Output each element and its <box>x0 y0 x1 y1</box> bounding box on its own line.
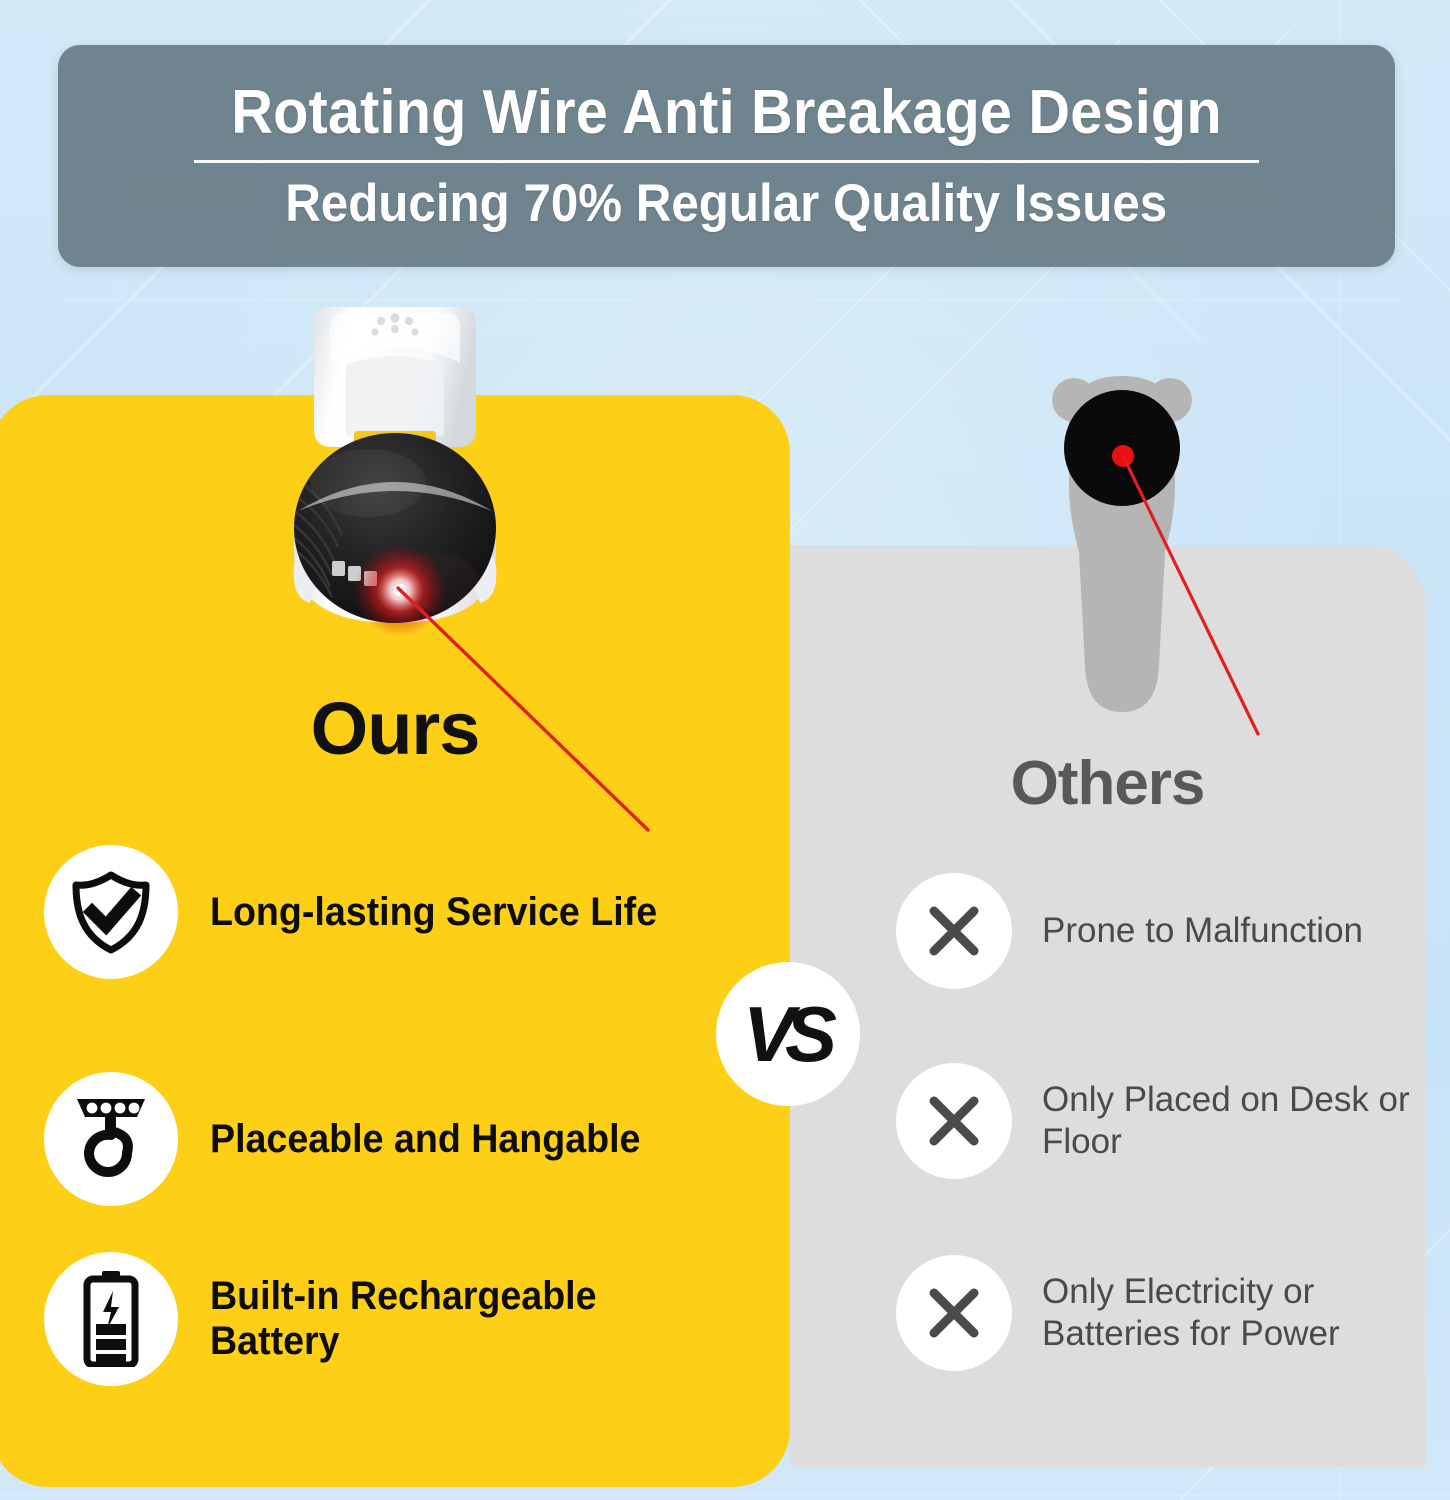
ours-feature-2-label: Placeable and Hangable <box>210 1117 640 1162</box>
vs-label: VS <box>743 995 827 1073</box>
vs-badge: VS <box>716 962 860 1106</box>
others-feature-2: Only Placed on Desk or Floor <box>896 1063 1422 1179</box>
ours-feature-3: Built-in Rechargeable Battery <box>44 1252 750 1386</box>
header-banner: Rotating Wire Anti Breakage Design Reduc… <box>58 45 1395 267</box>
banner-divider <box>194 160 1259 163</box>
infographic-canvas: Rotating Wire Anti Breakage Design Reduc… <box>0 0 1450 1500</box>
ours-feature-3-label: Built-in Rechargeable Battery <box>210 1274 718 1364</box>
shield-check-badge <box>44 845 178 979</box>
others-feature-3: Only Electricity or Batteries for Power <box>896 1255 1422 1371</box>
battery-badge <box>44 1252 178 1386</box>
banner-subtitle: Reducing 70% Regular Quality Issues <box>285 177 1167 231</box>
others-feature-1-label: Prone to Malfunction <box>1042 910 1363 952</box>
shield-check-icon <box>67 868 155 956</box>
crane-hook-badge <box>44 1072 178 1206</box>
cross-icon <box>926 903 982 959</box>
ours-feature-1: Long-lasting Service Life <box>44 845 686 979</box>
others-heading: Others <box>790 748 1425 819</box>
others-device-image <box>1047 366 1197 734</box>
cross-icon <box>926 1285 982 1341</box>
others-feature-3-label: Only Electricity or Batteries for Power <box>1042 1271 1422 1355</box>
ours-feature-2: Placeable and Hangable <box>44 1072 668 1206</box>
cross-badge-1 <box>896 873 1012 989</box>
banner-title: Rotating Wire Anti Breakage Design <box>231 81 1221 144</box>
rechargeable-battery-icon <box>81 1271 141 1367</box>
cross-icon <box>926 1093 982 1149</box>
ours-feature-1-label: Long-lasting Service Life <box>210 890 657 935</box>
ours-heading: Ours <box>0 686 790 771</box>
others-feature-1: Prone to Malfunction <box>896 873 1363 989</box>
cross-badge-2 <box>896 1063 1012 1179</box>
others-feature-2-label: Only Placed on Desk or Floor <box>1042 1079 1422 1163</box>
cross-badge-3 <box>896 1255 1012 1371</box>
ours-camera-image <box>286 303 504 655</box>
crane-hook-icon <box>69 1095 153 1183</box>
